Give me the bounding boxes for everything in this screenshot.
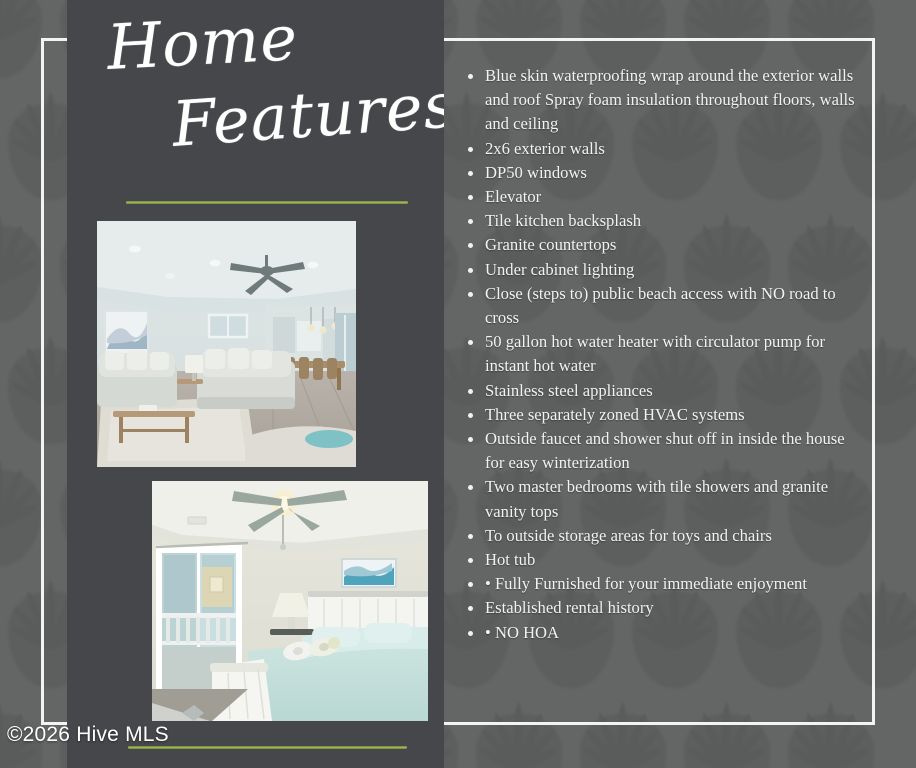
feature-item: Under cabinet lighting (461, 258, 859, 282)
feature-item: Granite countertops (461, 233, 859, 257)
accent-rule-top (126, 201, 408, 204)
feature-item: Blue skin waterproofing wrap around the … (461, 64, 859, 137)
living-room-illustration (97, 221, 356, 467)
feature-item: Stainless steel appliances (461, 379, 859, 403)
home-features-poster: Home Features (0, 0, 916, 768)
pineapple-motif (460, 662, 578, 768)
page-title-line-1: Home (105, 1, 299, 84)
feature-item: Established rental history (461, 596, 859, 620)
feature-item: Three separately zoned HVAC systems (461, 403, 859, 427)
feature-item: 50 gallon hot water heater with circulat… (461, 330, 859, 378)
page-title-line-2: Features (170, 68, 444, 161)
feature-item: • NO HOA (461, 621, 859, 645)
pineapple-motif (668, 662, 786, 768)
feature-item: Close (steps to) public beach access wit… (461, 282, 859, 330)
feature-item: To outside storage areas for toys and ch… (461, 524, 859, 548)
pineapple-motif (772, 662, 890, 768)
feature-item: Tile kitchen backsplash (461, 209, 859, 233)
feature-item: 2x6 exterior walls (461, 137, 859, 161)
feature-item: DP50 windows (461, 161, 859, 185)
feature-item: Two master bedrooms with tile showers an… (461, 475, 859, 523)
feature-item: Hot tub (461, 548, 859, 572)
pineapple-motif (564, 662, 682, 768)
accent-rule-bottom (128, 746, 407, 749)
mls-watermark: ©2026 Hive MLS (7, 723, 169, 747)
title-block: Home Features (67, 0, 444, 200)
features-list: Blue skin waterproofing wrap around the … (461, 64, 859, 645)
bedroom-photo (152, 481, 428, 721)
feature-item: • Fully Furnished for your immediate enj… (461, 572, 859, 596)
feature-item: Outside faucet and shower shut off in in… (461, 427, 859, 475)
feature-item: Elevator (461, 185, 859, 209)
living-room-photo (97, 221, 356, 467)
bedroom-illustration (152, 481, 428, 721)
